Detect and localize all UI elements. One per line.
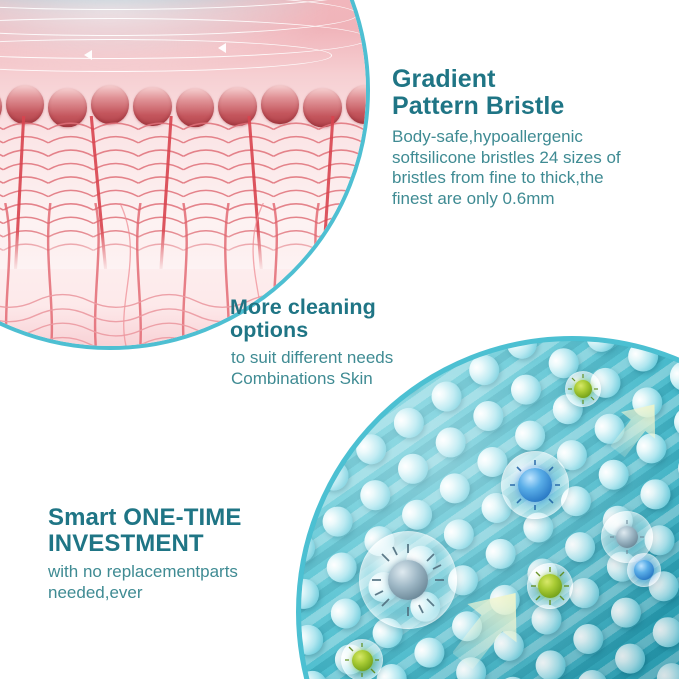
feature-body-line: needed,ever <box>48 583 348 604</box>
germ-gray-icon <box>616 526 638 548</box>
feature-body: with no replacementparts needed,ever <box>48 562 348 603</box>
bubble-icon <box>527 563 573 609</box>
lift-arrow-icon <box>453 581 525 673</box>
feature-body-line: with no replacementparts <box>48 562 348 583</box>
feature-body: Body-safe,hypoallergenic softsilicone br… <box>392 127 672 209</box>
feature-body-line: Combinations Skin <box>231 369 510 390</box>
germ-blue-icon <box>518 468 552 502</box>
feature-block-more-cleaning-options: More cleaning options to suit different … <box>230 296 510 389</box>
bubble-icon <box>359 531 457 629</box>
feature-heading: More cleaning options <box>230 296 510 342</box>
feature-body-line: finest are only 0.6mm <box>392 189 672 210</box>
feature-body-line: softsilicone bristles 24 sizes of <box>392 148 672 169</box>
feature-heading-line: More cleaning <box>230 296 510 319</box>
germ-green-icon <box>352 650 373 671</box>
feature-heading-line: Pattern Bristle <box>392 93 672 120</box>
germ-blue-icon <box>634 560 654 580</box>
wave-arrow-icon <box>218 43 226 53</box>
feature-body-line: Body-safe,hypoallergenic <box>392 127 672 148</box>
bubble-icon <box>565 371 601 407</box>
bubble-icon <box>627 553 661 587</box>
germ-gray-icon <box>388 560 428 600</box>
feature-heading: Smart ONE-TIME INVESTMENT <box>48 505 348 557</box>
feature-heading-line: options <box>230 319 510 342</box>
feature-body-line: bristles from fine to thick,the <box>392 168 672 189</box>
feature-heading-line: Gradient <box>392 66 672 93</box>
feature-heading: Gradient Pattern Bristle <box>392 66 672 120</box>
feature-heading-line: Smart ONE-TIME <box>48 505 348 531</box>
bubble-icon <box>341 639 383 679</box>
germ-green-icon <box>574 380 592 398</box>
product-feature-infographic: Gradient Pattern Bristle Body-safe,hypoa… <box>0 0 679 679</box>
feature-block-gradient-pattern-bristle: Gradient Pattern Bristle Body-safe,hypoa… <box>392 66 672 209</box>
feature-heading-line: INVESTMENT <box>48 531 348 557</box>
lift-arrow-icon <box>539 671 601 679</box>
feature-block-smart-one-time-investment: Smart ONE-TIME INVESTMENT with no replac… <box>48 505 348 603</box>
bubble-icon <box>501 451 569 519</box>
germ-green-icon <box>538 574 562 598</box>
feature-body-line: to suit different needs <box>231 348 510 369</box>
lift-arrow-icon <box>611 396 661 460</box>
feature-body: to suit different needs Combinations Ski… <box>230 348 510 389</box>
wave-arrow-icon <box>84 50 92 60</box>
